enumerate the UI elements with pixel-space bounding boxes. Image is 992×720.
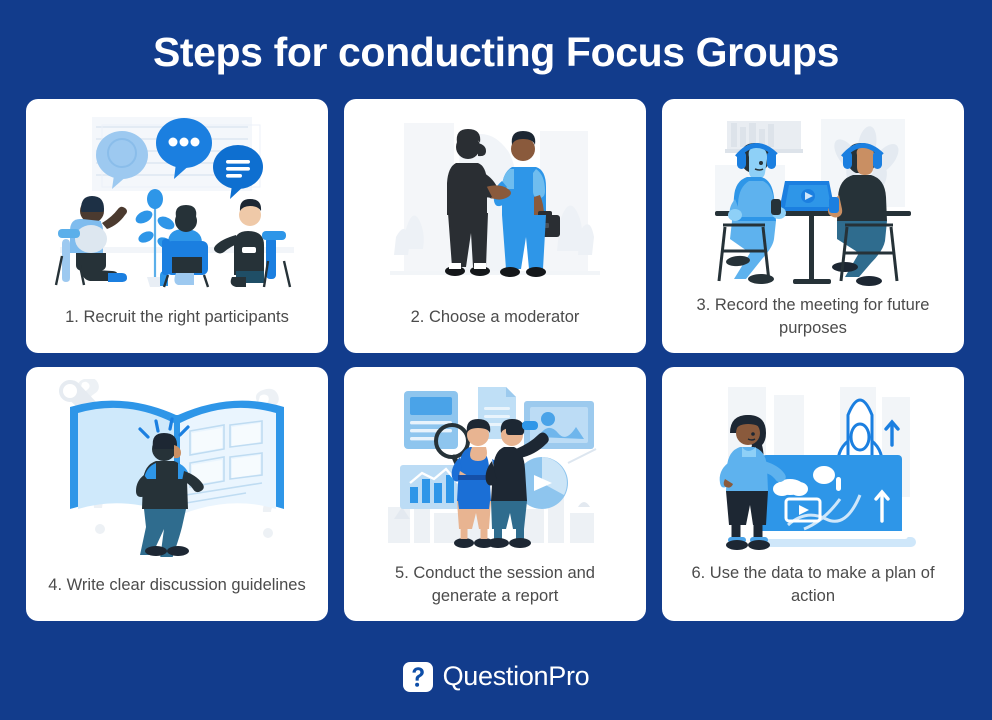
step-card-6[interactable]: 6. Use the data to make a plan of action (662, 367, 964, 621)
laptop-rocket-launch-illustration (676, 377, 950, 559)
questionpro-logo-icon (403, 662, 433, 692)
research-analysis-illustration (358, 377, 632, 559)
step-card-4[interactable]: 4. Write clear discussion guidelines (26, 367, 328, 621)
step-label-4: 4. Write clear discussion guidelines (42, 561, 311, 609)
step-card-1[interactable]: 1. Recruit the right participants (26, 99, 328, 353)
infographic-poster: Steps for conducting Focus Groups (0, 0, 992, 720)
step-card-3[interactable]: 3. Record the meeting for future purpose… (662, 99, 964, 353)
focus-group-discussion-illustration (40, 109, 314, 291)
open-book-guidelines-illustration (40, 377, 314, 559)
step-label-1: 1. Recruit the right participants (59, 293, 295, 341)
steps-grid: 1. Recruit the right participants (26, 99, 966, 621)
page-title: Steps for conducting Focus Groups (26, 30, 966, 75)
step-label-3: 3. Record the meeting for future purpose… (676, 293, 950, 341)
step-label-6: 6. Use the data to make a plan of action (676, 561, 950, 609)
step-label-5: 5. Conduct the session and generate a re… (358, 561, 632, 609)
interview-recording-illustration (676, 109, 950, 291)
brand-name: QuestionPro (443, 661, 590, 692)
step-card-5[interactable]: 5. Conduct the session and generate a re… (344, 367, 646, 621)
handshake-illustration (358, 109, 632, 291)
brand-footer: QuestionPro (0, 661, 992, 692)
step-card-2[interactable]: 2. Choose a moderator (344, 99, 646, 353)
step-label-2: 2. Choose a moderator (405, 293, 586, 341)
